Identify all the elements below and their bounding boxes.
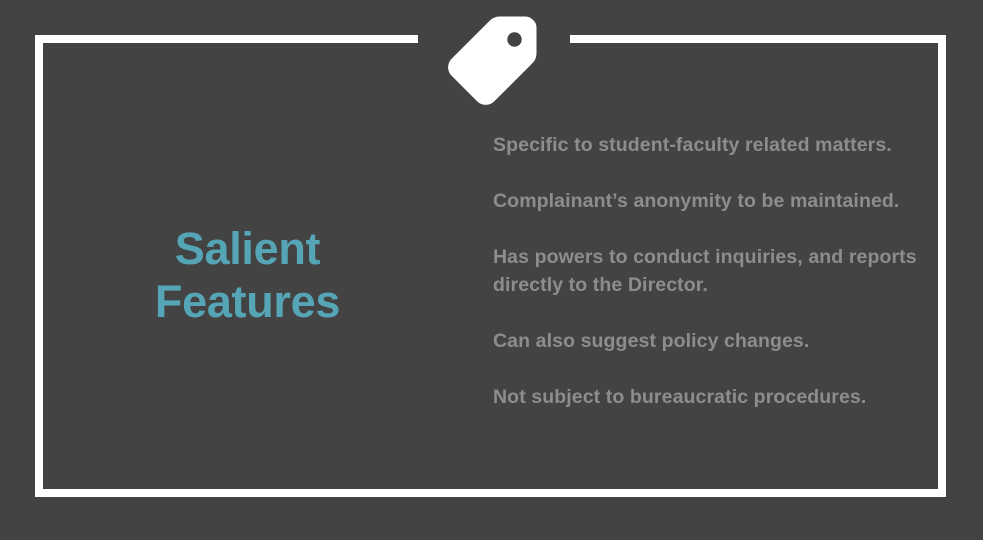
page-title: Salient Features	[60, 222, 435, 328]
list-item: Not subject to bureaucratic procedures.	[493, 383, 923, 411]
frame-border-right	[938, 35, 946, 497]
features-list: Specific to student-faculty related matt…	[493, 131, 923, 411]
title-line-1: Salient	[60, 222, 435, 275]
frame-border-bottom	[35, 489, 946, 497]
list-item: Specific to student-faculty related matt…	[493, 131, 923, 159]
title-line-2: Features	[60, 275, 435, 328]
list-item: Can also suggest policy changes.	[493, 327, 923, 355]
tag-icon	[444, 13, 540, 111]
list-item: Has powers to conduct inquiries, and rep…	[493, 243, 923, 299]
frame-border-top-right	[570, 35, 946, 43]
frame-border-left	[35, 35, 43, 497]
slide-canvas: Salient Features Specific to student-fac…	[0, 0, 983, 540]
list-item: Complainant’s anonymity to be maintained…	[493, 187, 923, 215]
frame-border-top-left	[35, 35, 418, 43]
